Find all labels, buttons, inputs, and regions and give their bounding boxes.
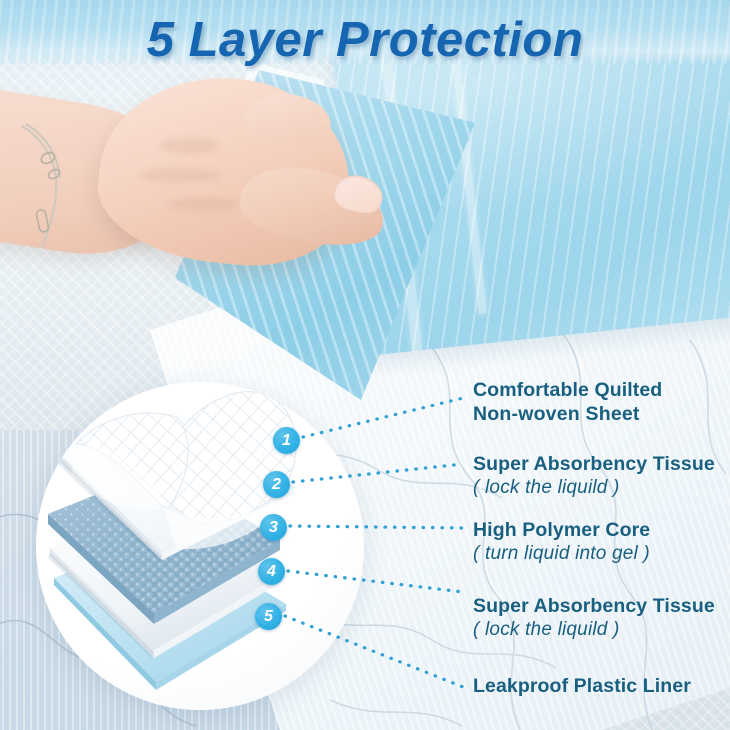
callout-4-sub: ( lock the liquild ) [473, 618, 715, 642]
callout-5-title: Leakproof Plastic Liner [473, 675, 691, 697]
layer-badge-5[interactable]: 5 [255, 603, 282, 630]
callout-label-1: Comfortable Quilted Non-woven Sheet [473, 378, 662, 426]
product-infographic: 1 2 3 4 5 Comfortable Quilted Non-woven … [0, 0, 730, 730]
layer-badge-2[interactable]: 2 [263, 471, 290, 498]
callout-label-2: Super Absorbency Tissue ( lock the liqui… [473, 452, 715, 500]
callout-label-3: High Polymer Core ( turn liquid into gel… [473, 518, 650, 566]
callout-2-title: Super Absorbency Tissue [473, 453, 715, 475]
callout-label-5: Leakproof Plastic Liner [473, 674, 691, 698]
callout-3-sub: ( turn liquid into gel ) [473, 542, 650, 566]
layer-badge-3[interactable]: 3 [260, 514, 287, 541]
layer-badge-1[interactable]: 1 [273, 427, 300, 454]
callout-3-title: High Polymer Core [473, 519, 650, 541]
callout-1-line-1: Comfortable Quilted [473, 379, 662, 401]
layer-badge-4[interactable]: 4 [258, 558, 285, 585]
callout-4-title: Super Absorbency Tissue [473, 595, 715, 617]
page-title: 5 Layer Protection [0, 12, 730, 68]
callout-1-line-2: Non-woven Sheet [473, 402, 662, 426]
callout-group: 1 2 3 4 5 Comfortable Quilted Non-woven … [0, 0, 730, 730]
callout-label-4: Super Absorbency Tissue ( lock the liqui… [473, 594, 715, 642]
callout-2-sub: ( lock the liquild ) [473, 476, 715, 500]
